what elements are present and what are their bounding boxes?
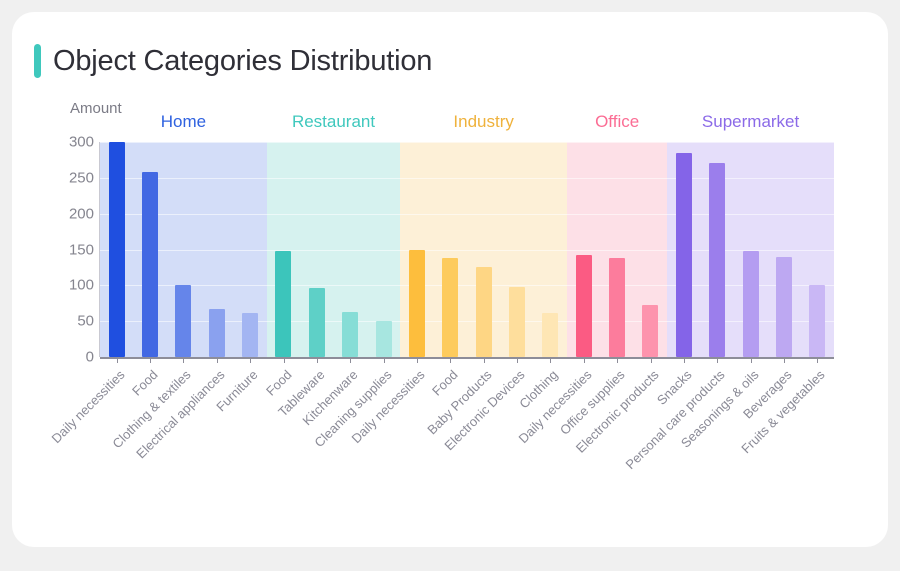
chart-card: Object Categories Distribution Amount 05… — [12, 12, 888, 547]
y-tick-label: 0 — [48, 349, 94, 366]
x-tick-mark — [651, 357, 652, 363]
x-tick-mark — [317, 357, 318, 363]
group-label-industry: Industry — [453, 112, 513, 132]
y-tick-label: 250 — [48, 169, 94, 186]
x-tick-mark — [183, 357, 184, 363]
bar[interactable] — [576, 255, 592, 357]
page-title: Object Categories Distribution — [53, 45, 432, 78]
x-tick-mark — [784, 357, 785, 363]
group-label-supermarket: Supermarket — [702, 112, 799, 132]
plot-area — [100, 142, 834, 357]
bar[interactable] — [409, 250, 425, 358]
y-tick-label: 300 — [48, 134, 94, 151]
bar[interactable] — [376, 321, 392, 357]
group-label-home: Home — [161, 112, 206, 132]
y-axis-ticks: 050100150200250300 — [42, 12, 94, 571]
x-tick-mark — [117, 357, 118, 363]
bar[interactable] — [709, 163, 725, 357]
bar[interactable] — [242, 313, 258, 357]
bar[interactable] — [809, 285, 825, 357]
bar[interactable] — [542, 313, 558, 357]
x-tick-mark — [417, 357, 418, 363]
y-axis-line — [99, 142, 100, 357]
bar[interactable] — [743, 251, 759, 357]
y-tick-label: 50 — [48, 313, 94, 330]
x-tick-mark — [284, 357, 285, 363]
bar[interactable] — [175, 285, 191, 357]
bar[interactable] — [642, 305, 658, 357]
x-tick-mark — [150, 357, 151, 363]
bar[interactable] — [509, 287, 525, 357]
x-tick-mark — [717, 357, 718, 363]
x-tick-mark — [617, 357, 618, 363]
y-tick-label: 150 — [48, 241, 94, 258]
bar[interactable] — [342, 312, 358, 357]
x-tick-mark — [250, 357, 251, 363]
x-tick-mark — [484, 357, 485, 363]
x-tick-mark — [517, 357, 518, 363]
bar[interactable] — [676, 153, 692, 357]
bar[interactable] — [476, 267, 492, 357]
y-tick-label: 200 — [48, 205, 94, 222]
bar[interactable] — [109, 142, 125, 357]
bar[interactable] — [209, 309, 225, 357]
x-tick-mark — [384, 357, 385, 363]
x-tick-mark — [550, 357, 551, 363]
x-tick-mark — [350, 357, 351, 363]
y-tick-label: 100 — [48, 277, 94, 294]
grid-line — [100, 142, 834, 143]
x-tick-mark — [817, 357, 818, 363]
x-tick-mark — [584, 357, 585, 363]
group-label-office: Office — [595, 112, 639, 132]
bar[interactable] — [776, 257, 792, 357]
bar[interactable] — [442, 258, 458, 357]
group-label-restaurant: Restaurant — [292, 112, 375, 132]
bar[interactable] — [275, 251, 291, 357]
x-tick-mark — [684, 357, 685, 363]
x-axis-line — [100, 357, 834, 359]
bar[interactable] — [309, 288, 325, 357]
x-tick-mark — [751, 357, 752, 363]
x-tick-mark — [450, 357, 451, 363]
bar[interactable] — [609, 258, 625, 357]
bar[interactable] — [142, 172, 158, 357]
accent-bar-icon — [34, 44, 41, 78]
x-tick-mark — [217, 357, 218, 363]
